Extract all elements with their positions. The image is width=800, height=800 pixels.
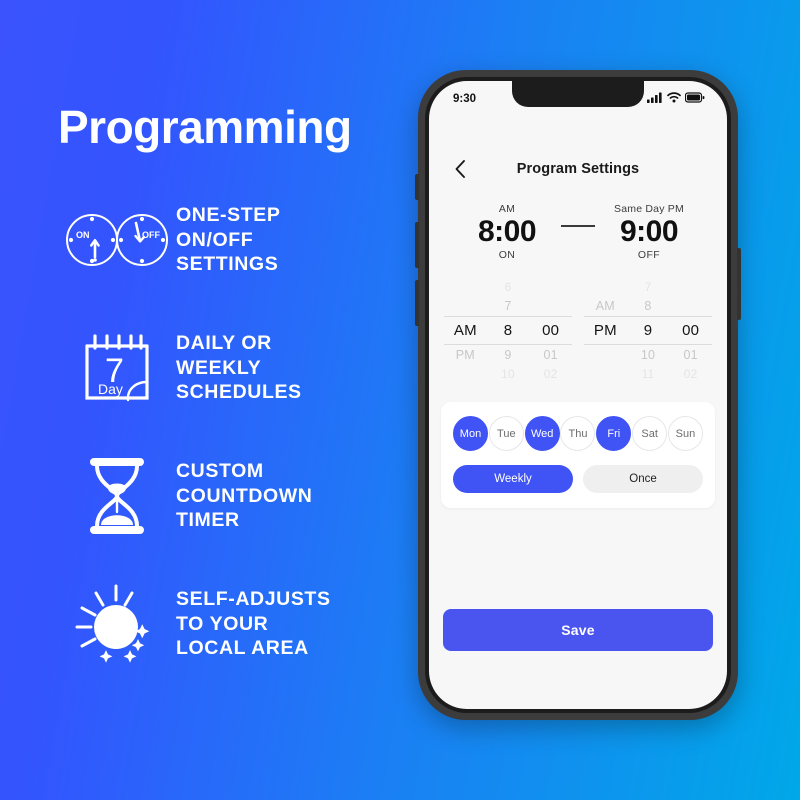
feature-label: CUSTOM COUNTDOWN TIMER	[176, 459, 312, 534]
feature-one-step-onoff: ON OFF ONE-STEP ON/OFF SETTINGS	[58, 194, 420, 286]
picker-cell[interactable]: 10	[627, 348, 670, 362]
picker-row-selected[interactable]: PM900	[584, 317, 712, 344]
end-time-value: 9:00	[597, 216, 701, 247]
end-meridiem-label: Same Day PM	[597, 203, 701, 215]
picker-row[interactable]: AM8	[584, 297, 712, 317]
start-picker-rows[interactable]: 67AM800PM9011002	[444, 277, 572, 384]
day-chip-fri[interactable]: Fri	[596, 416, 631, 451]
on-off-clocks-icon: ON OFF	[58, 211, 176, 269]
volume-down-button[interactable]	[415, 280, 419, 326]
power-button[interactable]	[737, 248, 741, 320]
repeat-mode-once[interactable]: Once	[583, 465, 703, 493]
picker-cell[interactable]: 11	[627, 367, 670, 381]
marketing-panel: Programming ON OFF	[0, 0, 420, 800]
end-time-picker[interactable]: 7AM8PM90010011102	[584, 277, 712, 384]
start-time-value: 8:00	[455, 216, 559, 247]
day-chip-sun[interactable]: Sun	[668, 416, 703, 451]
end-picker-rows[interactable]: 7AM8PM90010011102	[584, 277, 712, 384]
feature-label: SELF-ADJUSTS TO YOUR LOCAL AREA	[176, 587, 331, 662]
end-time-summary: Same Day PM 9:00 OFF	[597, 203, 701, 261]
silent-switch-button[interactable]	[415, 174, 419, 200]
start-time-picker[interactable]: 67AM800PM9011002	[444, 277, 572, 384]
repeat-mode-weekly[interactable]: Weekly	[453, 465, 573, 493]
picker-row[interactable]: 1001	[584, 345, 712, 365]
picker-cell[interactable]: 01	[529, 348, 572, 362]
page-title: Programming	[58, 104, 420, 150]
status-bar: 9:30	[429, 81, 727, 111]
svg-text:Day: Day	[98, 381, 123, 397]
nav-title: Program Settings	[429, 161, 727, 177]
wifi-icon	[667, 90, 681, 108]
phone-screen: 9:30	[429, 81, 727, 709]
start-time-summary: AM 8:00 ON	[455, 203, 559, 261]
day-chip-sat[interactable]: Sat	[632, 416, 667, 451]
feature-daily-weekly-schedules: 7 Day DAILY OR WEEKLY SCHEDULES	[58, 322, 420, 414]
status-bar-time: 9:30	[453, 93, 476, 105]
day-chip-wed[interactable]: Wed	[525, 416, 560, 451]
nav-header: Program Settings	[429, 141, 727, 197]
seven-day-calendar-icon: 7 Day	[58, 330, 176, 406]
start-state-label: ON	[455, 249, 559, 261]
svg-text:OFF: OFF	[142, 230, 160, 240]
picker-row[interactable]: 7	[584, 277, 712, 297]
sun-moon-icon	[58, 582, 176, 666]
day-chip-tue[interactable]: Tue	[489, 416, 524, 451]
picker-cell[interactable]: 02	[529, 367, 572, 381]
picker-cell[interactable]: 6	[487, 280, 530, 294]
picker-row[interactable]: 6	[444, 277, 572, 297]
picker-row[interactable]: PM901	[444, 345, 572, 365]
day-chip-thu[interactable]: Thu	[560, 416, 595, 451]
schedule-options-card: MonTueWedThuFriSatSun WeeklyOnce	[441, 402, 715, 508]
time-pickers: 67AM800PM9011002 7AM8PM90010011102	[429, 261, 727, 384]
hourglass-icon	[58, 456, 176, 536]
phone-mockup: 9:30	[418, 70, 738, 720]
picker-row[interactable]: 1002	[444, 365, 572, 385]
summary-separator-dash	[561, 225, 595, 227]
picker-cell[interactable]: AM	[444, 322, 487, 339]
picker-cell[interactable]: AM	[584, 299, 627, 313]
picker-cell[interactable]: PM	[444, 348, 487, 362]
feature-self-adjusts-local-area: SELF-ADJUSTS TO YOUR LOCAL AREA	[58, 578, 420, 670]
save-button[interactable]: Save	[443, 609, 713, 651]
volume-up-button[interactable]	[415, 222, 419, 268]
svg-text:ON: ON	[76, 230, 90, 240]
day-selector[interactable]: MonTueWedThuFriSatSun	[453, 416, 703, 451]
cellular-signal-icon	[647, 90, 663, 108]
picker-cell[interactable]: 00	[529, 322, 572, 339]
picker-cell[interactable]: 02	[669, 367, 712, 381]
picker-cell[interactable]: 9	[487, 348, 530, 362]
picker-row-selected[interactable]: AM800	[444, 317, 572, 344]
picker-cell[interactable]: PM	[584, 322, 627, 339]
picker-cell[interactable]: 8	[487, 322, 530, 339]
feature-custom-countdown-timer: CUSTOM COUNTDOWN TIMER	[58, 450, 420, 542]
picker-cell[interactable]: 10	[487, 367, 530, 381]
feature-label: ONE-STEP ON/OFF SETTINGS	[176, 203, 280, 278]
repeat-mode-selector[interactable]: WeeklyOnce	[453, 465, 703, 493]
picker-cell[interactable]: 7	[487, 299, 530, 313]
picker-cell[interactable]: 01	[669, 348, 712, 362]
start-meridiem-label: AM	[455, 203, 559, 215]
schedule-summary: AM 8:00 ON Same Day PM 9:00 OFF	[429, 197, 727, 261]
status-bar-icons	[647, 90, 705, 108]
battery-icon	[685, 90, 705, 108]
picker-cell[interactable]: 8	[627, 299, 670, 313]
picker-row[interactable]: 1102	[584, 365, 712, 385]
feature-label: DAILY OR WEEKLY SCHEDULES	[176, 331, 302, 406]
picker-row[interactable]: 7	[444, 297, 572, 317]
picker-cell[interactable]: 9	[627, 322, 670, 339]
end-state-label: OFF	[597, 249, 701, 261]
save-button-container: Save	[429, 609, 727, 651]
picker-cell[interactable]: 00	[669, 322, 712, 339]
day-chip-mon[interactable]: Mon	[453, 416, 488, 451]
picker-cell[interactable]: 7	[627, 280, 670, 294]
